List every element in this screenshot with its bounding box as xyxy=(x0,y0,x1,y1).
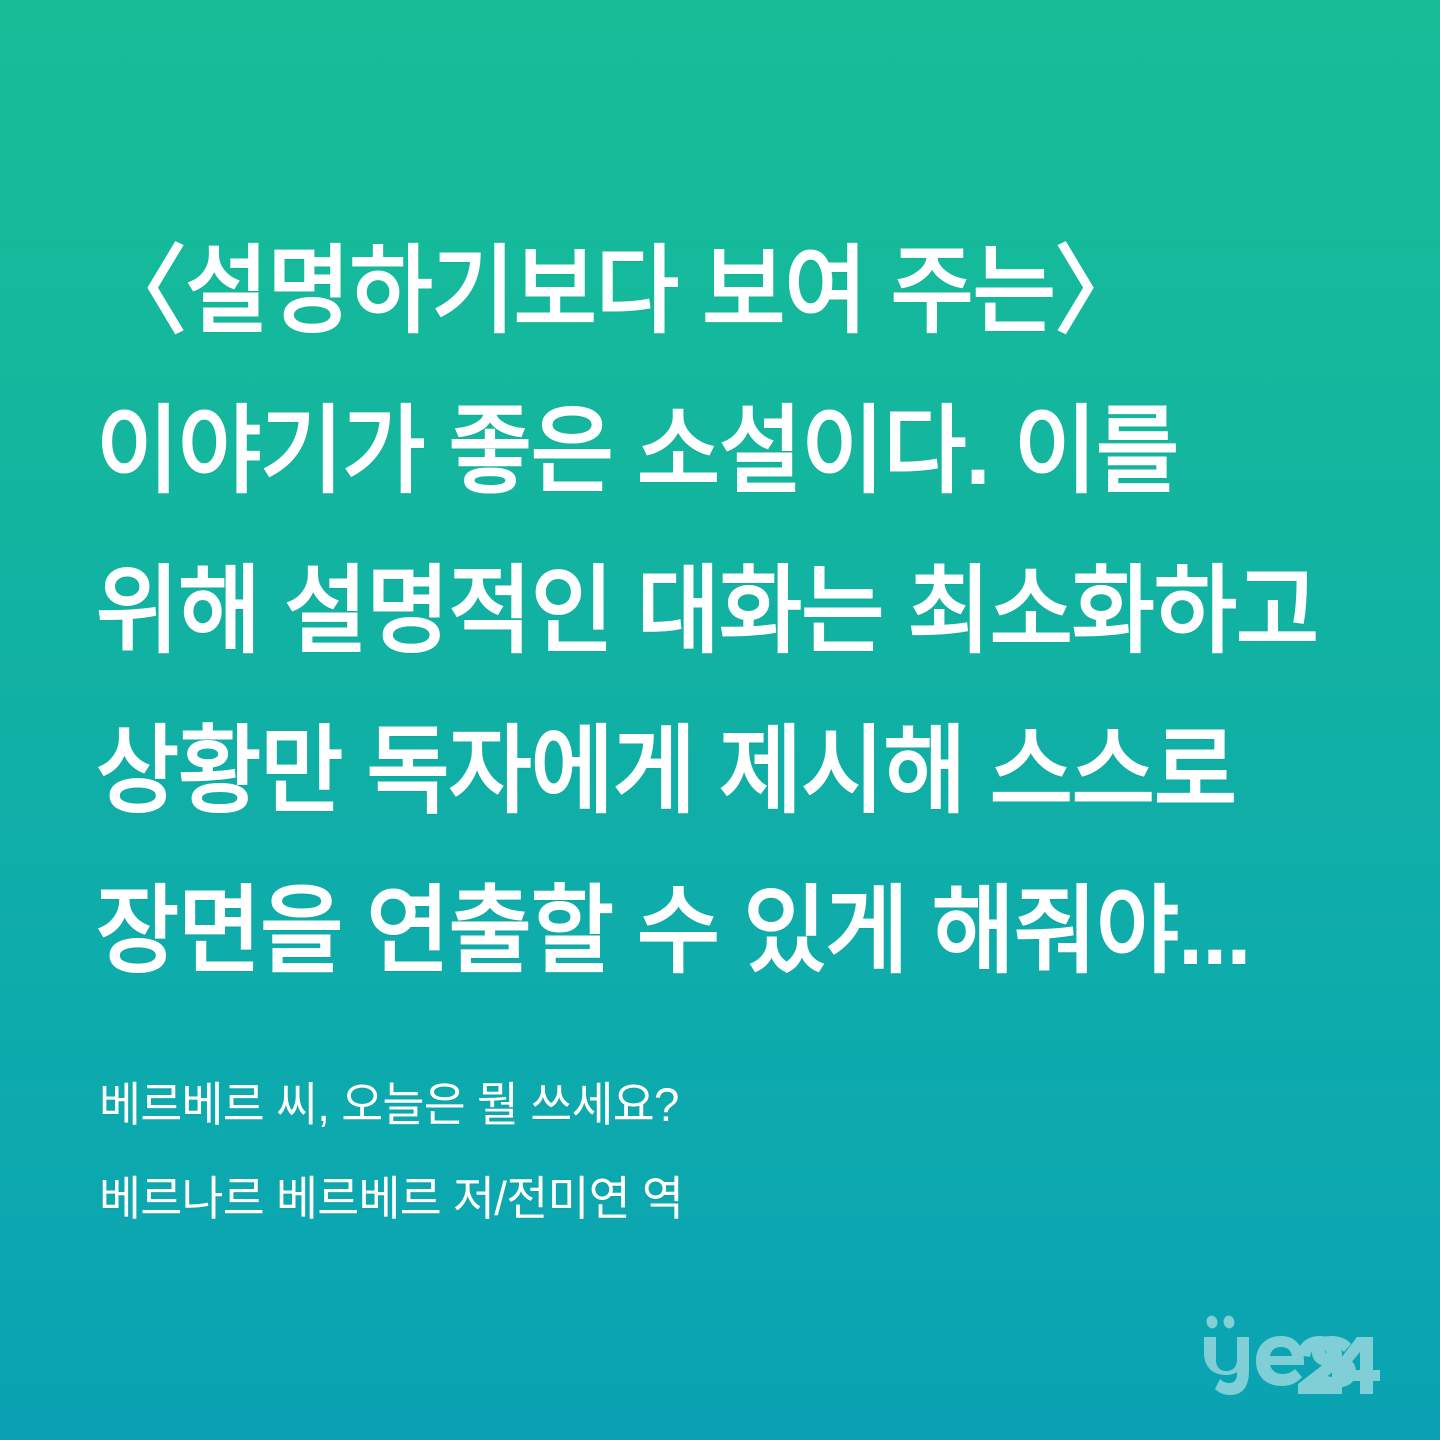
quote-card: 〈설명하기보다 보여 주는〉 이야기가 좋은 소설이다. 이를 위해 설명적인 … xyxy=(0,0,1440,1440)
yes24-logo xyxy=(1198,1310,1388,1396)
attribution-block: 베르베르 씨, 오늘은 뭘 쓰세요? 베르나르 베르베르 저/전미연 역 xyxy=(99,1058,999,1246)
quote-line-4: 상황만 독자에게 제시해 스스로 xyxy=(96,692,1280,852)
book-credits: 베르나르 베르베르 저/전미연 역 xyxy=(99,1152,972,1246)
quote-line-2: 이야기가 좋은 소설이다. 이를 xyxy=(96,372,1280,532)
quote-line-1: 〈설명하기보다 보여 주는〉 xyxy=(96,212,1280,372)
quote-line-3: 위해 설명적인 대화는 최소화하고 xyxy=(96,532,1280,692)
quote-text-block: 〈설명하기보다 보여 주는〉 이야기가 좋은 소설이다. 이를 위해 설명적인 … xyxy=(96,212,1356,1012)
book-title: 베르베르 씨, 오늘은 뭘 쓰세요? xyxy=(99,1058,972,1152)
quote-line-5: 장면을 연출할 수 있게 해줘야... xyxy=(96,852,1280,1012)
